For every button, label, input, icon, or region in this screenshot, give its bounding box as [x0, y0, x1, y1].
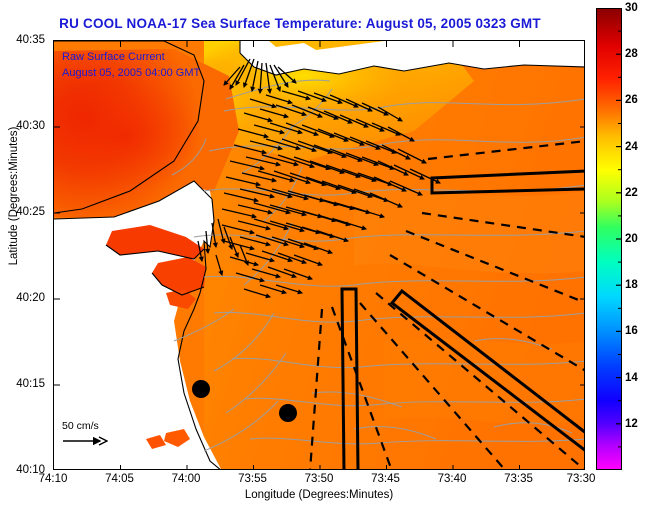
colorbar-tick-label: 12 — [625, 418, 638, 430]
current-annotation: Raw Surface Current August 05, 2005 04:0… — [62, 49, 200, 81]
y-tick-label: 40:20 — [16, 292, 45, 304]
colorbar-tick-label: 30 — [625, 2, 638, 14]
map-plot-area[interactable]: Raw Surface Current August 05, 2005 04:0… — [53, 40, 585, 470]
x-tick-label: 74:05 — [105, 473, 134, 485]
colorbar-tick-label: 24 — [625, 141, 638, 153]
right-arrow-icon — [62, 435, 108, 447]
vector-scale-legend: 50 cm/s — [62, 420, 108, 447]
x-tick-label: 73:30 — [567, 473, 596, 485]
colorbar-tick-label: 18 — [625, 279, 638, 291]
x-tick-label: 73:55 — [238, 473, 267, 485]
y-tick-label: 40:30 — [16, 120, 45, 132]
colorbar-labels: 30 28 26 24 22 20 18 16 14 12 — [624, 8, 651, 470]
x-axis-title: Longitude (Degrees:Minutes) — [53, 489, 585, 501]
colorbar-tick-label: 16 — [625, 325, 638, 337]
sst-map-svg — [54, 41, 585, 470]
figure-root: RU COOL NOAA-17 Sea Surface Temperature:… — [0, 0, 651, 518]
x-axis-labels: 74:10 74:05 74:00 73:55 73:50 73:45 73:4… — [53, 470, 585, 490]
sst-south-band — [384, 338, 585, 424]
x-tick-label: 74:10 — [39, 473, 68, 485]
colorbar-tick-label: 20 — [625, 233, 638, 245]
page-title: RU COOL NOAA-17 Sea Surface Temperature:… — [0, 16, 600, 31]
annotation-line-2: August 05, 2005 04:00 GMT — [62, 65, 200, 81]
annotation-line-1: Raw Surface Current — [62, 49, 200, 65]
y-tick-label: 40:35 — [16, 34, 45, 46]
y-tick-label: 40:25 — [16, 206, 45, 218]
y-tick-label: 40:15 — [16, 378, 45, 390]
colorbar-tick-label: 28 — [625, 48, 638, 60]
x-tick-label: 73:45 — [371, 473, 400, 485]
station-marker-2[interactable] — [279, 404, 297, 422]
colorbar-ticks — [596, 8, 622, 470]
colorbar-tick-label: 22 — [625, 187, 638, 199]
map-canvas: Raw Surface Current August 05, 2005 04:0… — [54, 41, 584, 469]
station-marker-1[interactable] — [192, 380, 210, 398]
x-tick-label: 74:00 — [172, 473, 201, 485]
x-tick-label: 73:35 — [504, 473, 533, 485]
y-axis-title: Latitude (Degrees:Minutes) — [8, 96, 20, 296]
x-tick-label: 73:40 — [438, 473, 467, 485]
x-tick-label: 73:50 — [305, 473, 334, 485]
colorbar-tick-label: 14 — [625, 372, 638, 384]
colorbar-tick-label: 26 — [625, 94, 638, 106]
scale-legend-label: 50 cm/s — [62, 420, 108, 432]
